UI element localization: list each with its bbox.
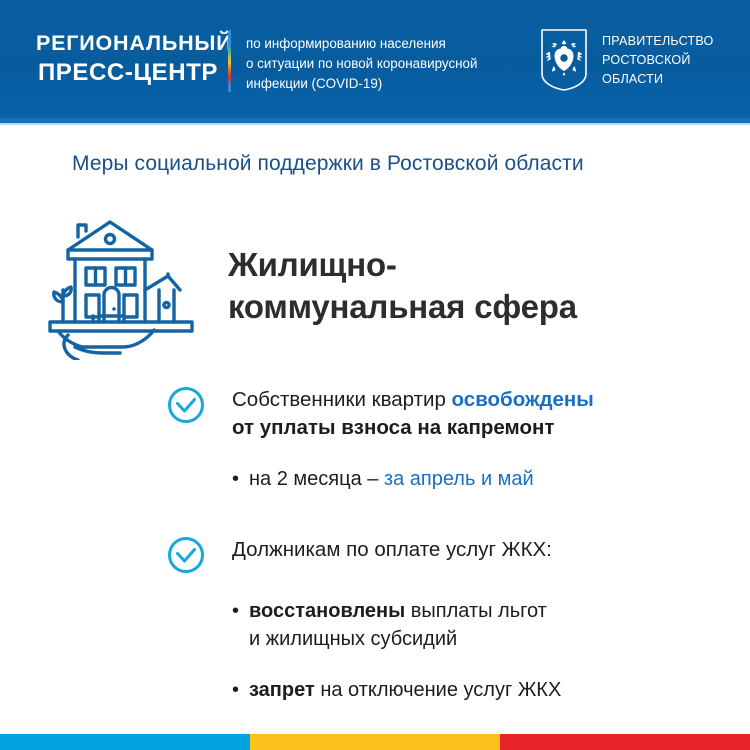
support-point-1: Собственники квартир освобождены от упла… [166, 384, 726, 493]
brand-divider [228, 30, 231, 92]
stripe-yellow [250, 734, 500, 750]
point-1-sub-list: на 2 месяца – за апрель и май [166, 465, 726, 493]
point-2-sub-1-bold: восстановлены [249, 600, 405, 622]
page-header: РЕГИОНАЛЬНЫЙ ПРЕСС-ЦЕНТР по информирован… [0, 0, 750, 118]
point-1-text: Собственники квартир освобождены от упла… [232, 384, 594, 443]
header-subtitle-line-3: инфекции (COVID-19) [246, 74, 516, 94]
hero-heading-line-2: коммунальная сфера [228, 286, 698, 328]
header-subtitle-line-2: о ситуации по новой коронавирусной [246, 54, 516, 74]
header-subtitle: по информированию населения о ситуации п… [246, 34, 516, 93]
header-subtitle-line-1: по информированию населения [246, 34, 516, 54]
point-2-sub-2-plain: на отключение услуг ЖКХ [315, 679, 562, 701]
header-underline-light [0, 123, 750, 125]
point-2-text-part1: Должникам по оплате услуг ЖКХ: [232, 538, 552, 561]
point-1-text-part2: от уплаты взноса на капремонт [232, 416, 554, 439]
brand-block: РЕГИОНАЛЬНЫЙ ПРЕСС-ЦЕНТР [36, 30, 218, 88]
bottom-color-stripes [0, 734, 750, 750]
support-point-2: Должникам по оплате услуг ЖКХ: восстанов… [166, 534, 726, 704]
point-2-sub-1-plain2: и жилищных субсидий [249, 628, 457, 650]
house-on-hand-icon [38, 210, 208, 360]
check-circle-icon [166, 535, 206, 575]
point-2-sub-1-plain: выплаты льгот [405, 600, 547, 622]
point-2-sub-2-bold: запрет [249, 679, 315, 701]
list-item: восстановлены выплаты льготи жилищных су… [232, 597, 726, 653]
coat-of-arms-icon [540, 28, 588, 92]
stripe-red [500, 734, 750, 750]
point-1-header: Собственники квартир освобождены от упла… [166, 384, 726, 443]
point-2-text: Должникам по оплате услуг ЖКХ: [232, 534, 552, 564]
point-2-sub-list: восстановлены выплаты льготи жилищных су… [166, 597, 726, 704]
brand-line-2: ПРЕСС-ЦЕНТР [36, 58, 218, 88]
point-1-accent: освобождены [452, 388, 594, 411]
government-logo-block: ПРАВИТЕЛЬСТВО РОСТОВСКОЙ ОБЛАСТИ [540, 28, 714, 92]
brand-line-1: РЕГИОНАЛЬНЫЙ [36, 30, 218, 58]
government-name: ПРАВИТЕЛЬСТВО РОСТОВСКОЙ ОБЛАСТИ [602, 28, 714, 89]
government-line-1: ПРАВИТЕЛЬСТВО [602, 32, 714, 51]
check-circle-icon [166, 385, 206, 425]
point-1-text-part1: Собственники квартир [232, 388, 452, 411]
government-line-2: РОСТОВСКОЙ [602, 51, 714, 70]
point-1-sub-1-plain: на 2 месяца – [249, 468, 384, 490]
point-2-header: Должникам по оплате услуг ЖКХ: [166, 534, 726, 575]
page-title: Меры социальной поддержки в Ростовской о… [72, 152, 584, 176]
list-item: на 2 месяца – за апрель и май [232, 465, 726, 493]
stripe-blue [0, 734, 250, 750]
government-line-3: ОБЛАСТИ [602, 70, 714, 89]
point-1-sub-1-accent: за апрель и май [384, 468, 534, 490]
list-item: запрет на отключение услуг ЖКХ [232, 676, 726, 704]
hero-heading: Жилищно- коммунальная сфера [228, 244, 698, 328]
hero-heading-line-1: Жилищно- [228, 244, 698, 286]
